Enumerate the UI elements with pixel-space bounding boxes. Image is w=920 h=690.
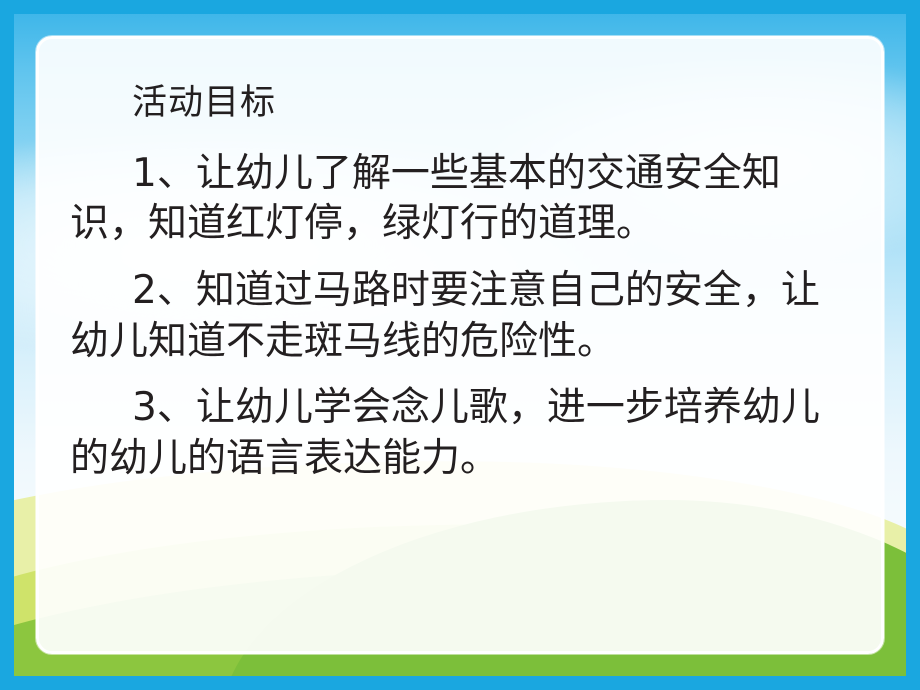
page-title: 活动目标 bbox=[70, 84, 850, 123]
slide: 活动目标 1、让幼儿了解一些基本的交通安全知识，知道红灯停，绿灯行的道理。 2、… bbox=[0, 0, 920, 690]
objective-item-3: 3、让幼儿学会念儿歌，进一步培养幼儿的幼儿的语言表达能力。 bbox=[70, 383, 850, 484]
objective-item-1: 1、让幼儿了解一些基本的交通安全知识，知道红灯停，绿灯行的道理。 bbox=[70, 149, 850, 250]
objective-item-2: 2、知道过马路时要注意自己的安全，让幼儿知道不走斑马线的危险性。 bbox=[70, 266, 850, 367]
slide-text-body: 活动目标 1、让幼儿了解一些基本的交通安全知识，知道红灯停，绿灯行的道理。 2、… bbox=[36, 36, 884, 654]
